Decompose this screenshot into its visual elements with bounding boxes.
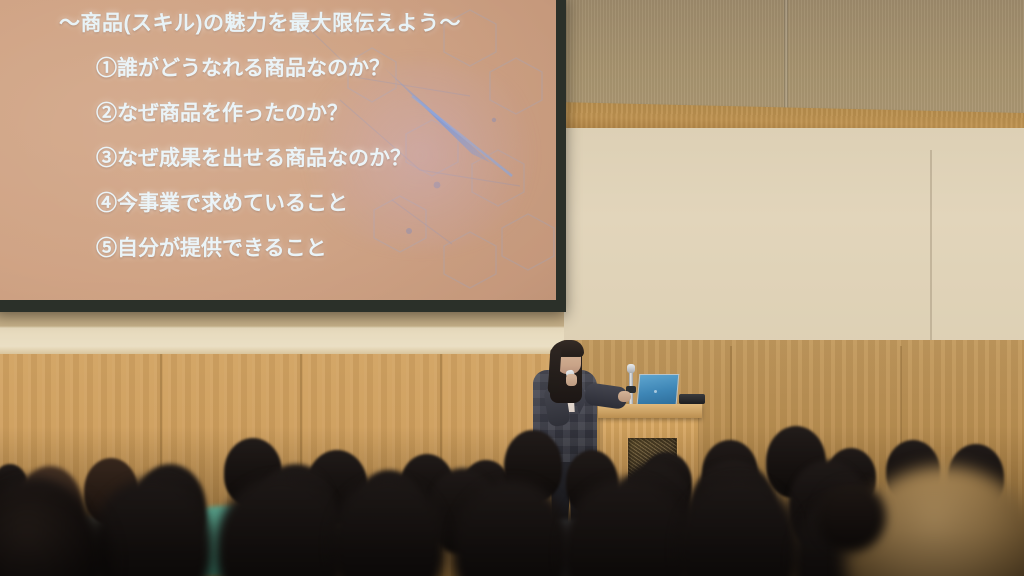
projection-screen: ～商品(スキル)の魅力を最大限伝えよう～ ①誰がどうなれる商品なのか？ ②なぜ商…	[0, 0, 556, 300]
slide-content: ～商品(スキル)の魅力を最大限伝えよう～ ①誰がどうなれる商品なのか？ ②なぜ商…	[0, 0, 556, 300]
foreground-shadow-gradient	[0, 426, 1024, 576]
slide-bullet-3: ③なぜ成果を出せる商品なのか？	[96, 148, 536, 169]
glasses-icon	[560, 356, 580, 362]
podium-microphone-head-icon	[627, 364, 635, 373]
presentation-photo-scene: ～商品(スキル)の魅力を最大限伝えよう～ ①誰がどうなれる商品なのか？ ②なぜ商…	[0, 0, 1024, 576]
slide-bullet-1: ①誰がどうなれる商品なのか？	[96, 58, 536, 79]
lower-wall-right	[556, 128, 1024, 353]
lower-wall-seam	[930, 150, 932, 345]
slide-bullet-4: ④今事業で求めていること	[96, 193, 536, 214]
slide-bullet-5: ⑤自分が提供できること	[96, 238, 536, 259]
projection-screen-frame: ～商品(スキル)の魅力を最大限伝えよう～ ①誰がどうなれる商品なのか？ ②なぜ商…	[0, 0, 566, 312]
slide-bullet-list: ①誰がどうなれる商品なのか？ ②なぜ商品を作ったのか？ ③なぜ成果を出せる商品な…	[96, 58, 536, 283]
wall-seam	[784, 0, 788, 122]
slide-bullet-2: ②なぜ商品を作ったのか？	[96, 103, 536, 124]
slide-title: ～商品(スキル)の魅力を最大限伝えよう～	[0, 7, 520, 37]
presenter-hand-holding-mic	[566, 374, 577, 386]
